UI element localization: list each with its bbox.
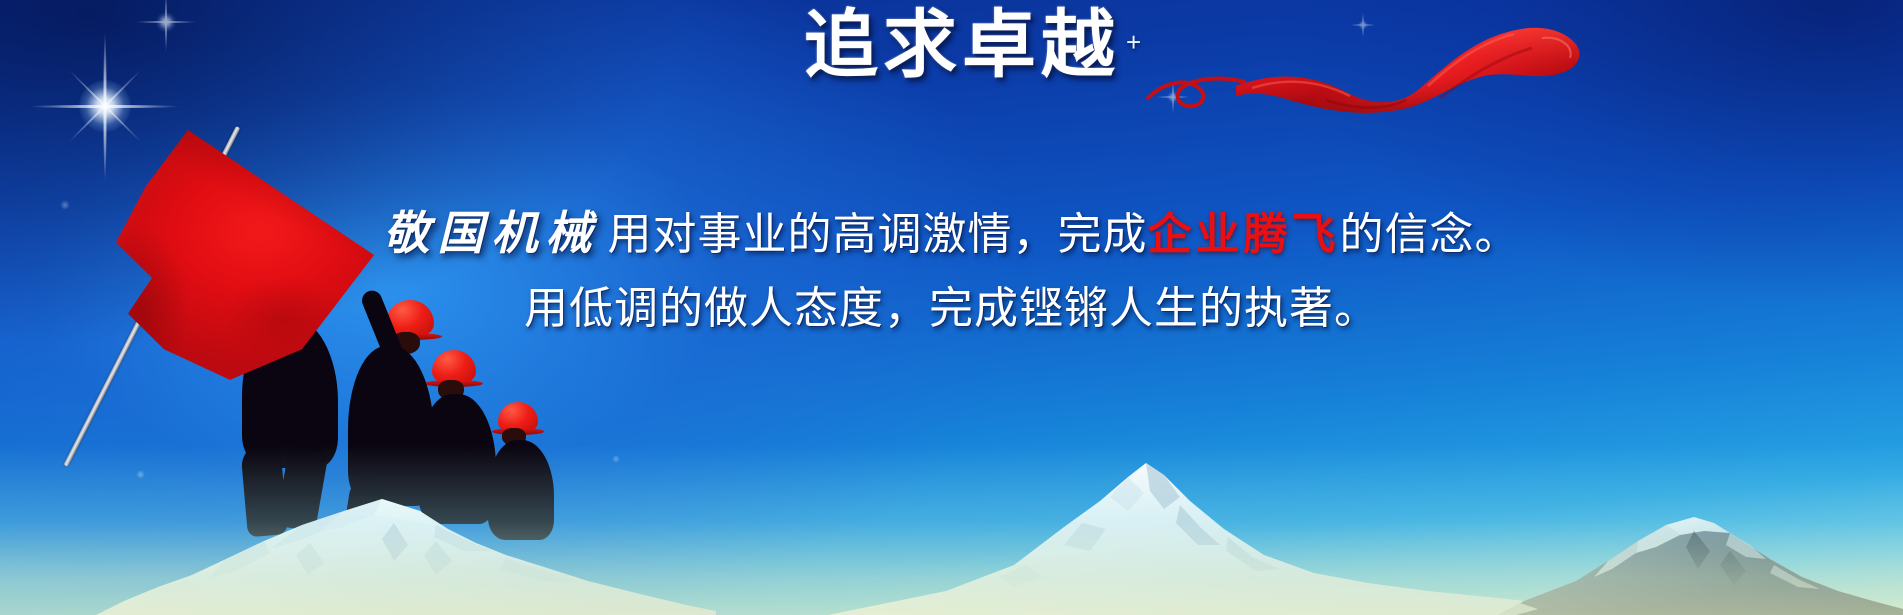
slogan-line1-part2: 的信念。 [1340, 210, 1520, 259]
slogan-accent-text: 企业腾飞 [1148, 209, 1340, 260]
brand-name: 敬国机械 [384, 206, 608, 260]
horizon-glow [0, 445, 1903, 615]
headline: 追求卓越 + [804, 8, 1141, 82]
promo-banner: 追求卓越 + [0, 0, 1903, 615]
red-ribbon-decoration [1140, 14, 1610, 119]
headline-plus-mark: + [1126, 27, 1141, 58]
headline-text: 追求卓越 [804, 8, 1120, 82]
slogan-block: 敬国机械用对事业的高调激情，完成企业腾飞的信念。 用低调的做人态度，完成铿锵人生… [0, 196, 1903, 346]
slogan-line-1: 敬国机械用对事业的高调激情，完成企业腾飞的信念。 [0, 196, 1903, 272]
slogan-line-2: 用低调的做人态度，完成铿锵人生的执著。 [0, 272, 1903, 346]
slogan-line1-part1: 用对事业的高调激情，完成 [608, 210, 1148, 259]
